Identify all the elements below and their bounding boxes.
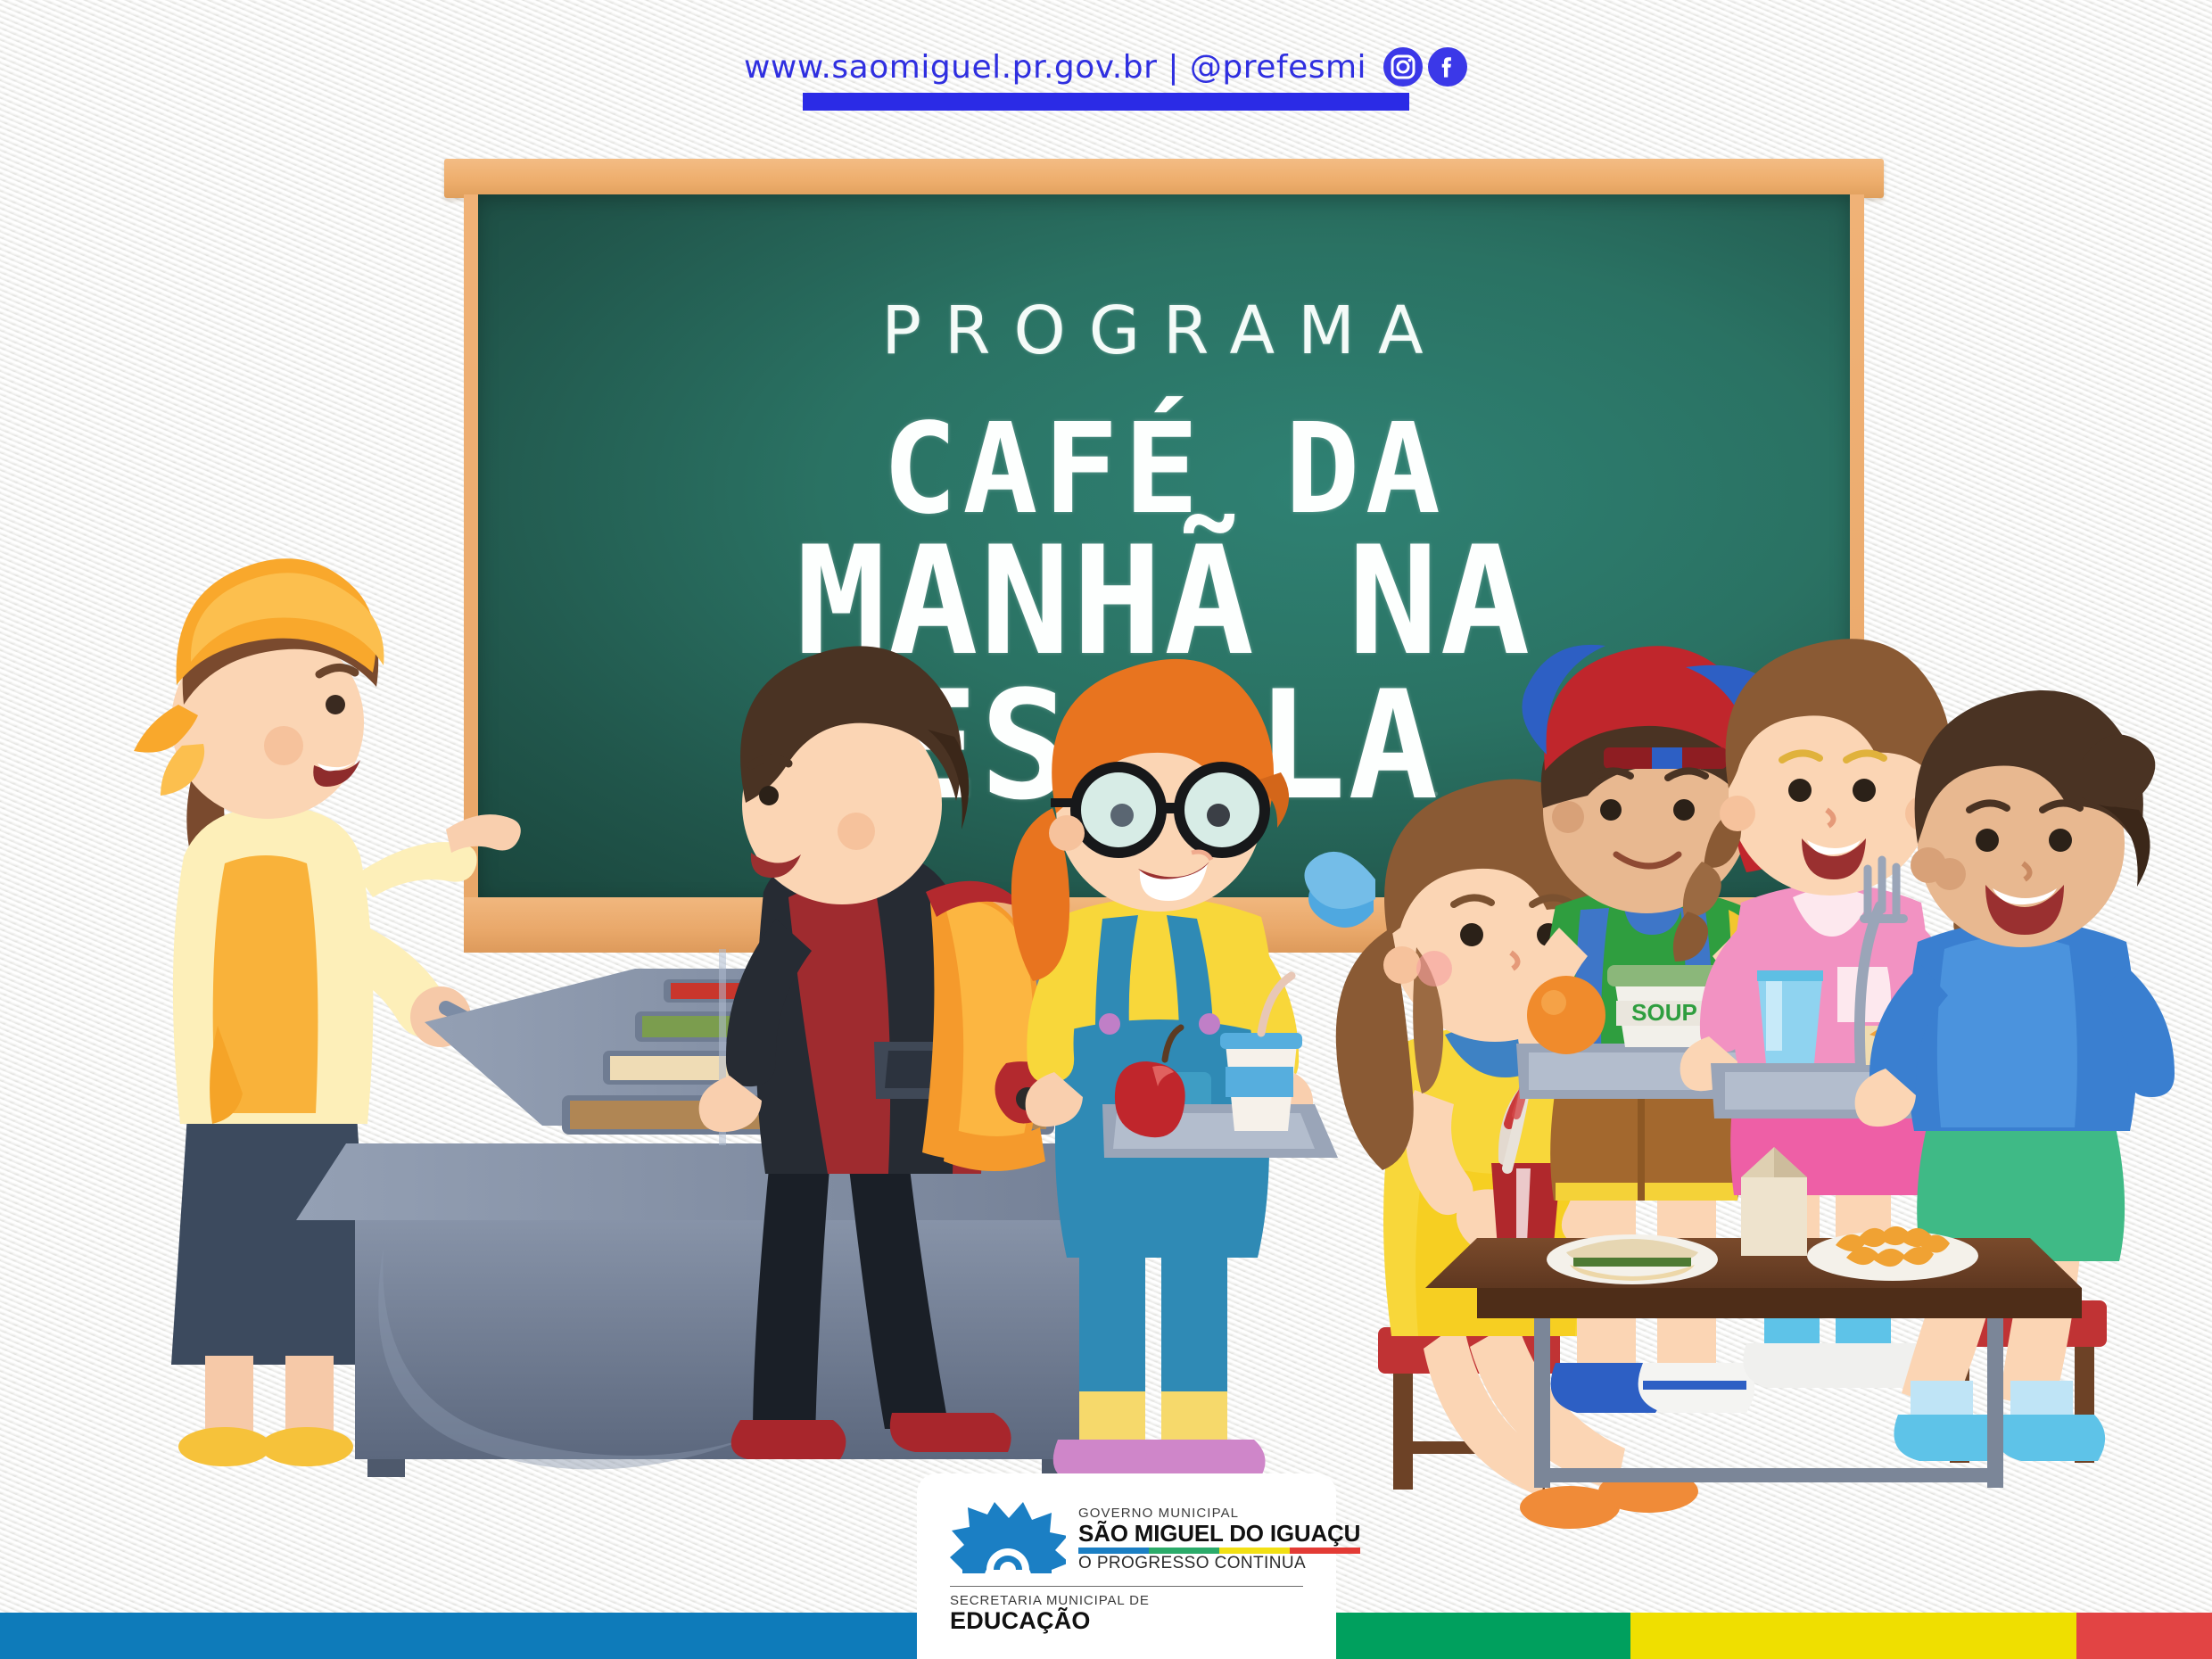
footer-segment-blue bbox=[0, 1613, 917, 1659]
chalkboard-bottom-rail bbox=[464, 897, 1864, 953]
city-motto: O PROGRESSO CONTINUA bbox=[1078, 1555, 1360, 1573]
footer-segment-red bbox=[2076, 1613, 2212, 1659]
city-name: SÃO MIGUEL DO IGUAÇU bbox=[1078, 1522, 1360, 1546]
website-and-handle-text: www.saomiguel.pr.gov.br | @prefesmi bbox=[744, 49, 1366, 86]
program-headline: CAFÉ DA MANHÃ NA ESCOLA bbox=[478, 410, 1850, 818]
logo-color-bar bbox=[1078, 1548, 1360, 1554]
gear-sun-icon bbox=[950, 1500, 1066, 1573]
facebook-icon[interactable] bbox=[1427, 46, 1468, 87]
logo-bar-green bbox=[1149, 1548, 1219, 1554]
instagram-icon[interactable] bbox=[1382, 46, 1424, 87]
poster-canvas: www.saomiguel.pr.gov.br | @prefesmi bbox=[0, 0, 2212, 1659]
logo-divider bbox=[950, 1586, 1303, 1587]
header: www.saomiguel.pr.gov.br | @prefesmi bbox=[0, 46, 2212, 127]
logo-bar-red bbox=[1290, 1548, 1360, 1554]
chalk-smudge-decoration bbox=[1368, 762, 1743, 815]
chalkboard: PROGRAMA CAFÉ DA MANHÃ NA ESCOLA bbox=[464, 159, 1864, 953]
title-block: PROGRAMA CAFÉ DA MANHÃ NA ESCOLA bbox=[478, 293, 1850, 818]
footer-segment-green bbox=[1336, 1613, 1630, 1659]
logo-card: GOVERNO MUNICIPAL SÃO MIGUEL DO IGUAÇU O… bbox=[917, 1473, 1336, 1659]
chalkboard-frame: PROGRAMA CAFÉ DA MANHÃ NA ESCOLA bbox=[464, 194, 1864, 953]
department-prefix: SECRETARIA MUNICIPAL DE bbox=[950, 1593, 1303, 1608]
social-icons bbox=[1382, 46, 1468, 87]
department-name: EDUCAÇÃO bbox=[950, 1608, 1303, 1635]
header-underline-bar bbox=[803, 93, 1409, 111]
footer-segment-yellow bbox=[1630, 1613, 2076, 1659]
logo-bar-yellow bbox=[1219, 1548, 1290, 1554]
headline-line-1: CAFÉ DA bbox=[478, 410, 1850, 530]
chalkboard-top-rail bbox=[444, 159, 1884, 198]
logo-bar-blue bbox=[1078, 1548, 1149, 1554]
program-kicker: PROGRAMA bbox=[478, 293, 1850, 369]
chalkboard-surface: PROGRAMA CAFÉ DA MANHÃ NA ESCOLA bbox=[478, 194, 1850, 897]
